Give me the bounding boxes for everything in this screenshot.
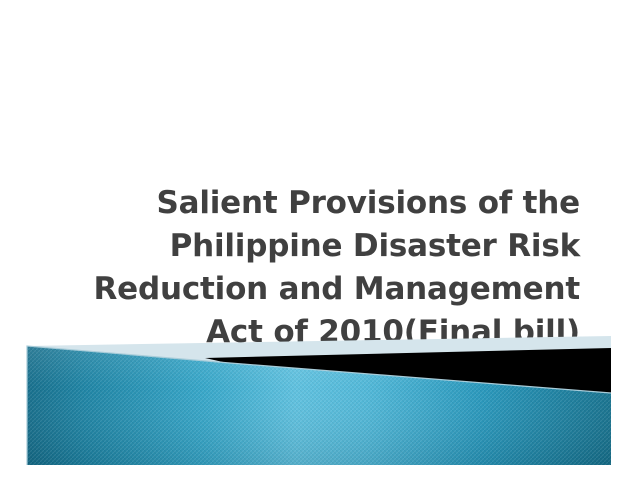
banner-svg — [0, 330, 640, 495]
slide-title: Salient Provisions of the Philippine Dis… — [60, 182, 580, 354]
title-line-3: Reduction and Management — [60, 268, 580, 311]
title-line-2: Philippine Disaster Risk — [60, 225, 580, 268]
title-line-1: Salient Provisions of the — [60, 182, 580, 225]
presentation-title-slide: Salient Provisions of the Philippine Dis… — [0, 0, 640, 495]
angled-banner-graphic — [0, 330, 640, 495]
